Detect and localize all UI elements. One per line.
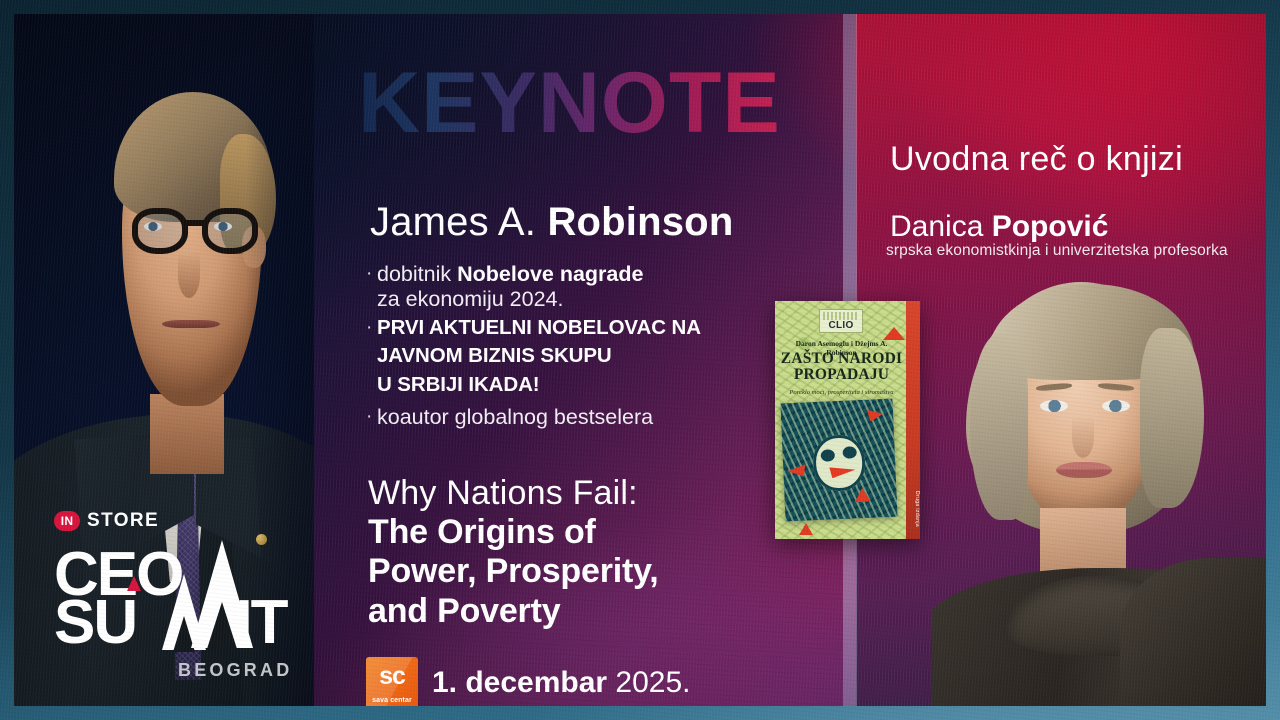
publisher-logo-stripes [823,312,859,320]
artwork-red-shape-1 [787,464,806,477]
cover-title-line2: PROPADAJU [794,366,889,383]
event-date-row: sc sava centar 1. decembar 2025. [366,657,691,706]
intro-last-name: Popović [992,210,1109,243]
cover-title-line1: ZAŠTO NARODI [781,350,902,367]
summit-tail: IT [235,588,286,657]
sava-centar-logo-mark: sc [366,664,418,689]
bullet-caps-line1: PRVI AKTUELNI NOBELOVAC NA [377,316,701,341]
sava-centar-logo: sc sava centar [366,657,418,706]
book-title-line1: Why Nations Fail: [368,474,659,513]
list-item-continuation: U SRBIJI IKADA! [366,373,776,398]
cover-spine: Druga izdanja [906,301,920,539]
intro-speaker-name: Danica Popović [890,210,1108,244]
artwork-red-shape-3 [854,488,871,503]
bullet-dot-icon: · [366,405,377,429]
bullet-caps-line3: U SRBIJI IKADA! [377,373,540,398]
publisher-name: CLIO [820,321,862,331]
keynote-bullet-list: · dobitnik Nobelove nagrade za ekonomiju… [366,262,776,430]
cover-artwork [780,399,897,522]
instore-logo: IN STORE [54,508,304,534]
artwork-red-beak [829,466,855,478]
book-title-block: Why Nations Fail: The Origins of Power, … [368,474,659,631]
intro-speaker-role: srpska ekonomistkinja i univerzitetska p… [886,242,1228,260]
bullet-text: dobitnik Nobelove nagrade [377,262,643,287]
summit-head: SU [54,588,136,657]
artwork-eye-right [842,446,857,459]
artwork-face [812,434,866,492]
cover-subtitle: Poreklo moći, prosperiteta i siromaštva [781,389,902,396]
speaker-first-name: James A. [370,200,547,244]
event-date-day: 1. decembar [432,666,607,699]
book-title-line4: and Poverty [368,592,659,631]
list-item-continuation: JAVNOM BIZNIS SKUPU [366,344,776,369]
publisher-logo-clio: CLIO [819,309,863,333]
intro-first-name: Danica [890,210,992,243]
poster-canvas: KEYNOTE James A. Robinson · dobitnik Nob… [0,0,1280,720]
bullet-dot-icon: · [366,316,377,340]
bullet-plain: dobitnik [377,262,457,286]
poster-artwork: KEYNOTE James A. Robinson · dobitnik Nob… [14,14,1266,706]
intro-section-title: Uvodna reč o knjizi [890,140,1183,179]
bullet-text: koautor globalnog bestselera [377,405,653,430]
book-cover-image: CLIO Daron Asemoglu i Džejms A. Robinson… [775,301,920,539]
event-date: 1. decembar 2025. [432,666,691,700]
sava-centar-logo-subtitle: sava centar [366,697,418,704]
list-item: · dobitnik Nobelove nagrade [366,262,776,287]
cover-title: ZAŠTO NARODIPROPADAJU [779,351,904,384]
artwork-eye-left [821,449,836,462]
bullet-caps-line2: JAVNOM BIZNIS SKUPU [377,344,612,369]
bullet-text-line2: za ekonomiju 2024. [377,287,563,312]
list-item: · PRVI AKTUELNI NOBELOVAC NA [366,316,776,341]
instore-wordmark: STORE [87,510,159,532]
speaker-last-name: Robinson [547,200,733,244]
book-title-line2: The Origins of [368,513,659,552]
city-label: BEOGRAD [178,660,292,681]
page-title-keynote: KEYNOTE [358,60,781,146]
bullet-strong: Nobelove nagrade [457,262,643,286]
keynote-speaker-name: James A. Robinson [370,200,733,245]
spacer [366,398,776,405]
bullet-dot-icon: · [366,262,377,286]
book-title-line3: Power, Prosperity, [368,552,659,591]
artwork-red-shape-2 [867,409,884,422]
list-item: · koautor globalnog bestselera [366,405,776,430]
list-item-continuation: za ekonomiju 2024. [366,287,776,312]
brand-logo-block: IN STORE CEO SUMMIT BEOGRAD [54,508,304,698]
cover-spine-text: Druga izdanja [906,491,920,527]
event-date-year: 2025. [607,666,690,699]
ceo-summit-logo: CEO SUMMIT BEOGRAD [54,544,304,694]
summit-wordmark: SUMMIT [54,592,287,654]
instore-pill-icon: IN [54,511,80,531]
